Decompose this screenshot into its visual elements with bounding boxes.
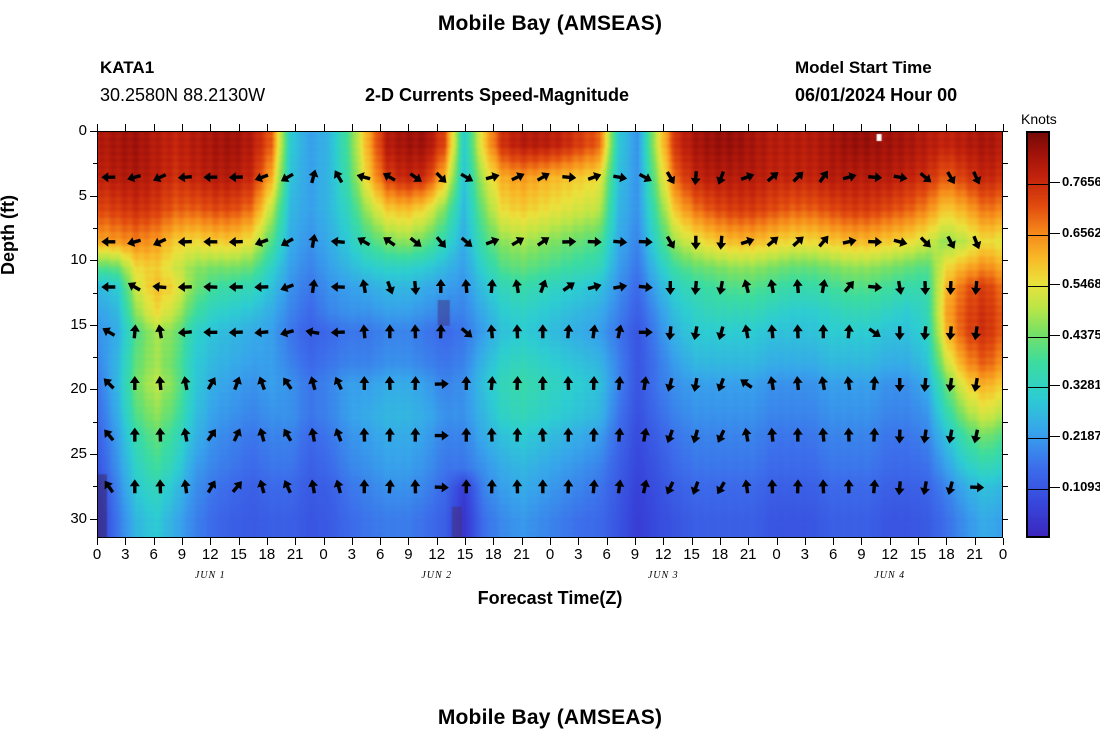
colorbar-tick (1050, 436, 1060, 437)
x-axis-tick (946, 538, 947, 545)
y-axis-tick-label: 25 (49, 445, 87, 462)
colorbar-tick (1050, 487, 1060, 488)
colorbar-inner-tick (1028, 387, 1048, 388)
x-axis-tick-label: 6 (139, 546, 169, 563)
x-axis-tick (1003, 538, 1004, 545)
x-axis-tick (380, 538, 381, 545)
colorbar-tick (1050, 385, 1060, 386)
model-start-time-value: 06/01/2024 Hour 00 (795, 85, 957, 106)
x-axis-tick-label: 12 (875, 546, 905, 563)
page-title: Mobile Bay (AMSEAS) (0, 12, 1100, 36)
x-axis-tick-label: 9 (167, 546, 197, 563)
colorbar-inner-tick (1028, 337, 1048, 338)
x-axis-day-label: JUN 3 (628, 570, 698, 581)
current-direction-vector-field (98, 132, 1003, 538)
x-axis-tick-label: 18 (478, 546, 508, 563)
x-axis-tick (578, 538, 579, 545)
y-axis-tick-label: 15 (49, 316, 87, 333)
x-axis-tick (267, 538, 268, 545)
y-axis-tick-label: 0 (49, 122, 87, 139)
x-axis-tick (182, 538, 183, 545)
x-axis-tick (975, 538, 976, 545)
right-axis-tick (1003, 389, 1008, 390)
x-axis-tick-label: 9 (846, 546, 876, 563)
x-axis-tick-label: 21 (960, 546, 990, 563)
station-coordinates-label: 30.2580N 88.2130W (100, 85, 265, 106)
x-axis-tick-top (748, 124, 749, 131)
right-axis-tick (1003, 260, 1008, 261)
colorbar-tick-label: 0.109375 (1062, 479, 1100, 494)
model-start-time-label: Model Start Time (795, 58, 932, 78)
station-id-label: KATA1 (100, 58, 154, 78)
x-axis-tick-top (861, 124, 862, 131)
x-axis-tick-top (97, 124, 98, 131)
y-axis-tick (90, 389, 97, 390)
x-axis-tick-top (154, 124, 155, 131)
x-axis-tick-label: 12 (195, 546, 225, 563)
x-axis-tick-label: 6 (365, 546, 395, 563)
x-axis-tick-label: 3 (110, 546, 140, 563)
right-axis-tick (1003, 163, 1008, 164)
x-axis-tick-label: 6 (592, 546, 622, 563)
colorbar-tick (1050, 182, 1060, 183)
y-axis-minor-tick (93, 228, 97, 229)
x-axis-day-label: JUN 2 (402, 570, 472, 581)
x-axis-tick-top (1003, 124, 1004, 131)
x-axis-tick-top (239, 124, 240, 131)
y-axis-minor-tick (93, 486, 97, 487)
x-axis-tick-label: 12 (422, 546, 452, 563)
plot-subtitle: 2-D Currents Speed-Magnitude (365, 85, 629, 106)
x-axis-tick-top (946, 124, 947, 131)
heatmap-plot-area (97, 131, 1003, 538)
x-axis-tick-label: 0 (762, 546, 792, 563)
x-axis-tick-label: 21 (733, 546, 763, 563)
colorbar-inner-tick (1028, 235, 1048, 236)
x-axis-tick (607, 538, 608, 545)
x-axis-tick (522, 538, 523, 545)
x-axis-tick-label: 21 (280, 546, 310, 563)
right-axis-tick (1003, 519, 1008, 520)
x-axis-tick-label: 3 (790, 546, 820, 563)
x-axis-tick (663, 538, 664, 545)
x-axis-tick (890, 538, 891, 545)
x-axis-tick-label: 15 (677, 546, 707, 563)
x-axis-tick-label: 0 (309, 546, 339, 563)
right-axis-tick (1003, 357, 1008, 358)
x-axis-tick (324, 538, 325, 545)
x-axis-tick-label: 15 (224, 546, 254, 563)
x-axis-tick-label: 0 (988, 546, 1018, 563)
x-axis-tick-label: 6 (818, 546, 848, 563)
colorbar-gradient (1028, 133, 1048, 536)
x-axis-tick-top (578, 124, 579, 131)
y-axis-tick (90, 519, 97, 520)
colorbar-tick (1050, 233, 1060, 234)
x-axis-tick-top (182, 124, 183, 131)
x-axis-tick-label: 18 (705, 546, 735, 563)
right-axis-tick (1003, 293, 1008, 294)
x-axis-tick-top (493, 124, 494, 131)
x-axis-tick (861, 538, 862, 545)
y-axis-tick (90, 260, 97, 261)
x-axis-tick-top (720, 124, 721, 131)
x-axis-tick-top (975, 124, 976, 131)
y-axis-tick (90, 325, 97, 326)
right-axis-tick (1003, 325, 1008, 326)
x-axis-tick-top (408, 124, 409, 131)
x-axis-tick (550, 538, 551, 545)
right-axis-tick (1003, 131, 1008, 132)
x-axis-day-label: JUN 4 (855, 570, 925, 581)
right-axis-tick (1003, 196, 1008, 197)
y-axis-title: Depth (ft) (0, 195, 19, 275)
x-axis-tick-label: 0 (82, 546, 112, 563)
x-axis-tick-top (465, 124, 466, 131)
colorbar-tick-label: 0.65625 (1062, 225, 1100, 240)
x-axis-tick-top (918, 124, 919, 131)
y-axis-tick-label: 5 (49, 187, 87, 204)
x-axis-tick (748, 538, 749, 545)
y-axis-minor-tick (93, 357, 97, 358)
x-axis-tick (437, 538, 438, 545)
colorbar-inner-tick (1028, 184, 1048, 185)
colorbar-tick (1050, 335, 1060, 336)
x-axis-tick (833, 538, 834, 545)
x-axis-tick (295, 538, 296, 545)
x-axis-tick-label: 9 (393, 546, 423, 563)
x-axis-tick (408, 538, 409, 545)
x-axis-tick-top (607, 124, 608, 131)
x-axis-tick (239, 538, 240, 545)
x-axis-tick-top (295, 124, 296, 131)
colorbar-tick-label: 0.4375 (1062, 327, 1100, 342)
x-axis-tick (465, 538, 466, 545)
y-axis-tick-label: 20 (49, 380, 87, 397)
x-axis-tick-top (352, 124, 353, 131)
right-axis-tick (1003, 486, 1008, 487)
x-axis-tick-top (324, 124, 325, 131)
right-axis-tick (1003, 422, 1008, 423)
x-axis-tick-label: 3 (337, 546, 367, 563)
x-axis-tick-top (833, 124, 834, 131)
x-axis-day-label: JUN 1 (175, 570, 245, 581)
colorbar-tick-label: 0.328125 (1062, 377, 1100, 392)
colorbar-inner-tick (1028, 286, 1048, 287)
x-axis-tick-label: 15 (450, 546, 480, 563)
y-axis-minor-tick (93, 163, 97, 164)
x-axis-tick-top (805, 124, 806, 131)
x-axis-tick (918, 538, 919, 545)
x-axis-tick (720, 538, 721, 545)
x-axis-tick-label: 15 (903, 546, 933, 563)
x-axis-tick-top (210, 124, 211, 131)
y-axis-tick (90, 196, 97, 197)
x-axis-tick-label: 9 (620, 546, 650, 563)
x-axis-tick (777, 538, 778, 545)
x-axis-tick (635, 538, 636, 545)
x-axis-tick-top (125, 124, 126, 131)
y-axis-tick-label: 30 (49, 510, 87, 527)
y-axis-tick (90, 131, 97, 132)
y-axis-tick (90, 454, 97, 455)
y-axis-minor-tick (93, 422, 97, 423)
x-axis-tick-top (437, 124, 438, 131)
right-axis-tick (1003, 228, 1008, 229)
x-axis-tick-top (692, 124, 693, 131)
colorbar-inner-tick (1028, 438, 1048, 439)
x-axis-tick (125, 538, 126, 545)
x-axis-tick (352, 538, 353, 545)
x-axis-tick (493, 538, 494, 545)
x-axis-tick-top (380, 124, 381, 131)
x-axis-tick (154, 538, 155, 545)
x-axis-tick (692, 538, 693, 545)
x-axis-tick-top (267, 124, 268, 131)
colorbar-inner-tick (1028, 489, 1048, 490)
colorbar-tick (1050, 284, 1060, 285)
colorbar-title: Knots (1021, 111, 1057, 127)
x-axis-tick-label: 21 (507, 546, 537, 563)
x-axis-tick-label: 18 (252, 546, 282, 563)
right-axis-tick (1003, 454, 1008, 455)
x-axis-tick-top (522, 124, 523, 131)
x-axis-tick-label: 0 (535, 546, 565, 563)
x-axis-tick-top (890, 124, 891, 131)
colorbar-tick-label: 0.546875 (1062, 276, 1100, 291)
colorbar-tick-label: 0.21875 (1062, 428, 1100, 443)
x-axis-tick-label: 12 (648, 546, 678, 563)
x-axis-tick-top (777, 124, 778, 131)
y-axis-minor-tick (93, 293, 97, 294)
colorbar (1026, 131, 1050, 538)
x-axis-title: Forecast Time(Z) (0, 588, 1100, 609)
x-axis-tick (210, 538, 211, 545)
x-axis-tick-top (663, 124, 664, 131)
x-axis-tick-top (550, 124, 551, 131)
x-axis-tick (97, 538, 98, 545)
x-axis-tick-label: 18 (931, 546, 961, 563)
colorbar-tick-label: 0.765625 (1062, 174, 1100, 189)
x-axis-tick (805, 538, 806, 545)
bottom-page-title: Mobile Bay (AMSEAS) (0, 706, 1100, 730)
x-axis-tick-top (635, 124, 636, 131)
x-axis-tick-label: 3 (563, 546, 593, 563)
y-axis-tick-label: 10 (49, 251, 87, 268)
